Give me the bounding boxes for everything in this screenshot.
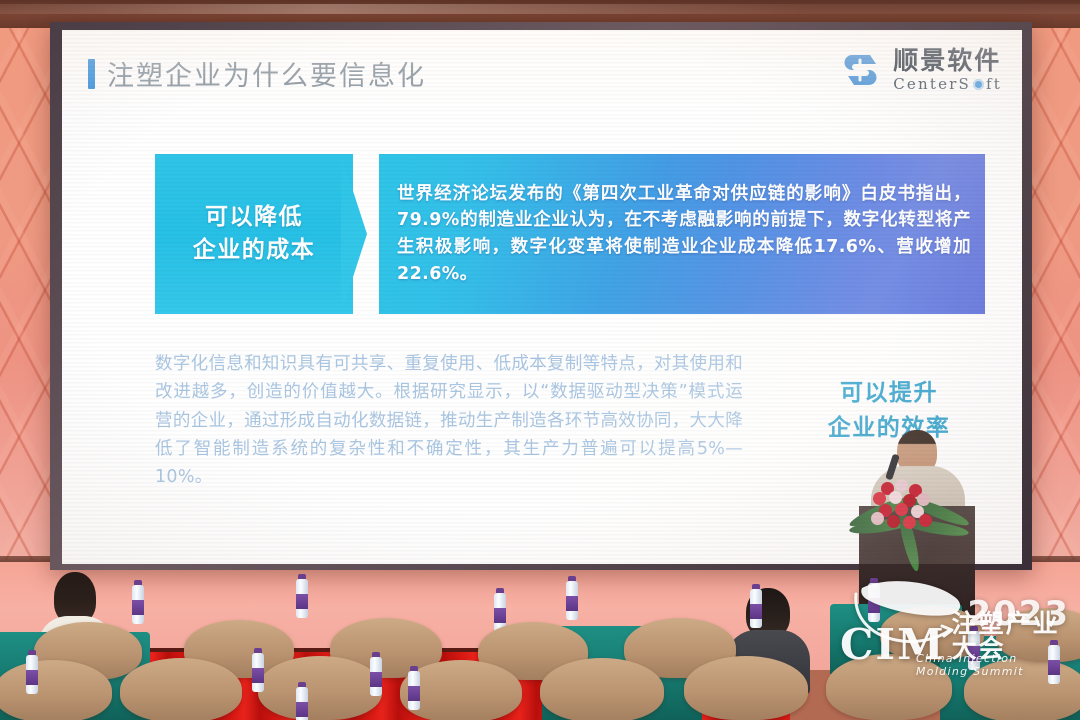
brand-en-left: Center <box>893 77 958 92</box>
water-bottle <box>296 574 308 618</box>
water-bottle <box>370 652 382 696</box>
water-bottle <box>408 666 420 710</box>
water-bottle <box>750 584 762 628</box>
cost-label-tile: 可以降低 企业的成本 <box>155 154 353 314</box>
brand-text: 顺景软件 CenterSft <box>893 48 1002 92</box>
water-bottle <box>968 626 980 670</box>
flower-arrangement <box>851 476 973 554</box>
chair <box>0 660 112 720</box>
cost-label-line2: 企业的成本 <box>193 234 316 267</box>
chair <box>258 656 382 720</box>
cost-reduction-block: 可以降低 企业的成本 世界经济论坛发布的《第四次工业革命对供应链的影响》白皮书指… <box>155 154 985 314</box>
slide-title-row: 注塑企业为什么要信息化 <box>88 54 426 93</box>
conference-photo: 注塑企业为什么要信息化 顺景软件 CenterSft 可以降低 企业的成本 <box>0 0 1080 720</box>
water-bottle <box>868 578 880 622</box>
water-bottle <box>566 576 578 620</box>
efficiency-paragraph-block: 数字化信息和知识具有可共享、重复使用、低成本复制等特点，对其使用和改进越多，创造… <box>155 350 743 492</box>
cost-body-text: 世界经济论坛发布的《第四次工业革命对供应链的影响》白皮书指出，79.9%的制造业… <box>397 181 971 287</box>
title-accent-bar <box>88 59 95 89</box>
brand-name-cn: 顺景软件 <box>893 48 1002 73</box>
brand-en-right: ft <box>986 77 1002 92</box>
water-bottle <box>1048 640 1060 684</box>
chair <box>120 658 242 720</box>
page-title: 注塑企业为什么要信息化 <box>107 54 426 93</box>
efficiency-label-line1: 可以提升 <box>840 376 938 411</box>
brand-o-dot-icon <box>973 79 984 90</box>
centersoft-s-icon <box>836 46 884 94</box>
chair <box>540 658 664 720</box>
water-bottle <box>252 648 264 692</box>
water-bottle <box>26 650 38 694</box>
arrow-right-icon <box>353 154 379 314</box>
brand-name-en: CenterSft <box>893 77 1002 92</box>
brand-logo: 顺景软件 CenterSft <box>836 46 1002 94</box>
water-bottle <box>296 682 308 720</box>
efficiency-paragraph: 数字化信息和知识具有可共享、重复使用、低成本复制等特点，对其使用和改进越多，创造… <box>155 350 743 492</box>
chair <box>996 608 1080 662</box>
cost-body-tile: 世界经济论坛发布的《第四次工业革命对供应链的影响》白皮书指出，79.9%的制造业… <box>379 154 985 314</box>
chair <box>964 658 1080 720</box>
chair <box>684 656 808 720</box>
cost-label-line1: 可以降低 <box>205 201 303 234</box>
ceiling-sheen <box>0 4 1080 14</box>
audience-area <box>0 560 1080 720</box>
water-bottle <box>132 580 144 624</box>
chair <box>826 654 952 720</box>
brand-en-mid: S <box>959 77 971 92</box>
